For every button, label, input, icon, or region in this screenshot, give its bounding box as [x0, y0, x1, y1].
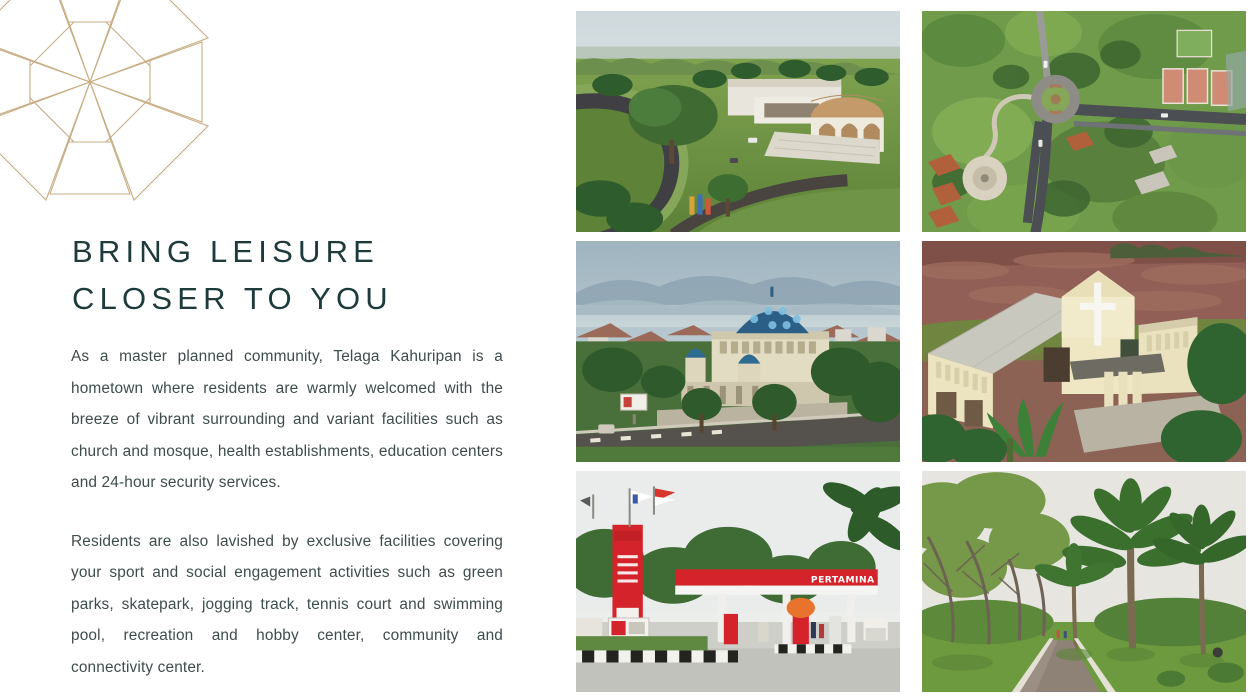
photo-church [922, 241, 1246, 462]
svg-text:PERTAMINA: PERTAMINA [811, 576, 875, 586]
slide-canvas: BRING LEISURE CLOSER TO YOU As a master … [0, 0, 1260, 700]
photo-clubhouse-aerial [576, 11, 900, 232]
photo-jogging-track [922, 471, 1246, 692]
page-title: BRING LEISURE CLOSER TO YOU [72, 228, 532, 322]
body-copy: As a master planned community, Telaga Ka… [71, 341, 503, 683]
photo-mosque [576, 241, 900, 462]
photo-estate-roundabout-aerial [922, 11, 1246, 232]
paragraph-2: Residents are also lavished by exclusive… [71, 526, 503, 684]
eight-pointed-star-icon [0, 0, 240, 228]
left-content-panel: BRING LEISURE CLOSER TO YOU As a master … [0, 0, 565, 700]
photo-petrol-station: PERTAMINA [576, 471, 900, 692]
photo-gallery-grid: PERTAMINA [576, 11, 1246, 692]
paragraph-1: As a master planned community, Telaga Ka… [71, 341, 503, 499]
